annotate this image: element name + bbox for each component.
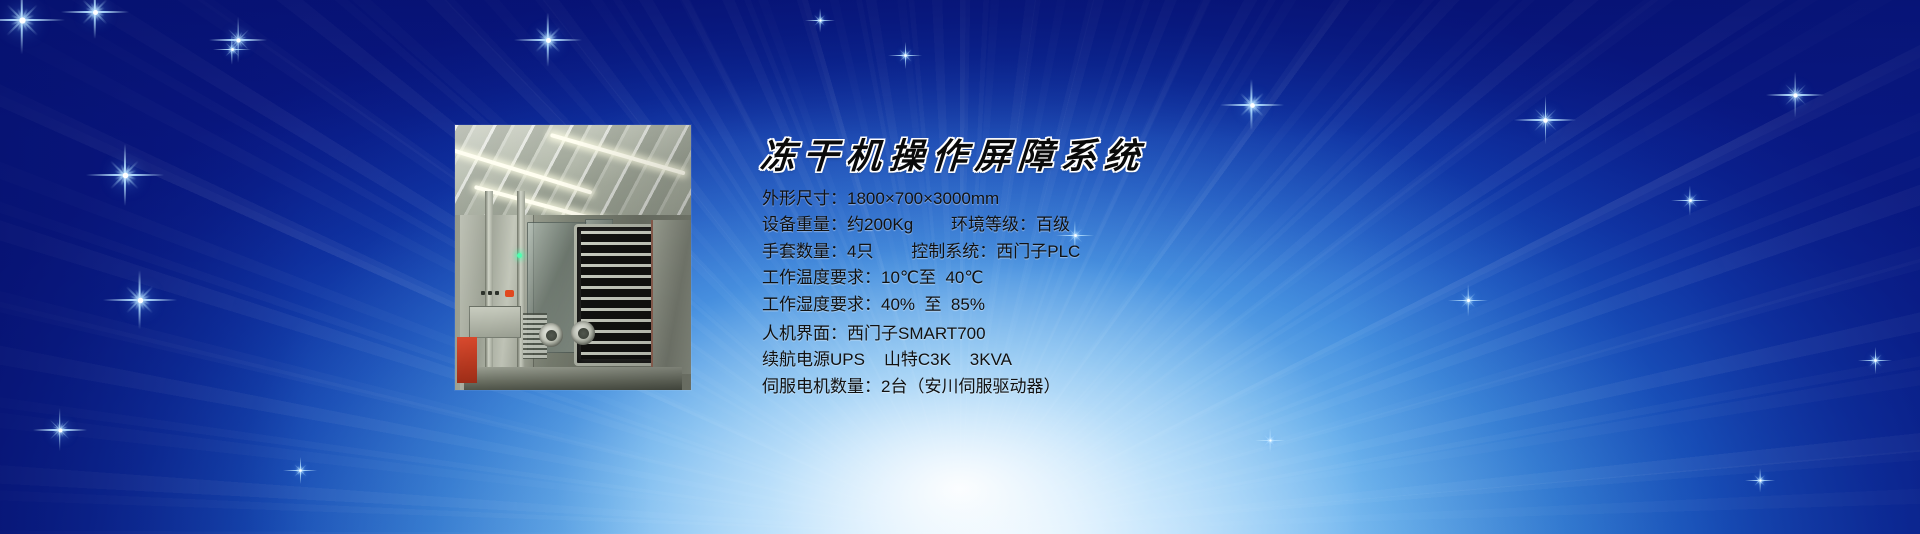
product-photo	[455, 125, 691, 390]
spec-line-gloves-plc: 手套数量：4只 控制系统：西门子PLC	[762, 239, 1452, 265]
spec-line-dimensions: 外形尺寸：1800×700×3000mm	[762, 186, 1452, 212]
spec-line-ups: 续航电源UPS 山特C3K 3KVA	[762, 347, 1452, 373]
spec-line-humidity: 工作湿度要求：40% 至 85%	[762, 292, 1452, 318]
page-title: 冻干机操作屏障系统	[759, 137, 1149, 177]
photo-shading-overlay	[455, 125, 691, 390]
spec-line-hmi: 人机界面：西门子SMART700	[762, 321, 1452, 347]
spec-line-temperature: 工作温度要求：10℃至 40℃	[762, 265, 1452, 291]
spec-line-weight-grade: 设备重量：约200Kg 环境等级：百级	[762, 212, 1452, 238]
product-photo-inner	[455, 125, 691, 390]
text-content: 冻干机操作屏障系统 外形尺寸：1800×700×3000mm 设备重量：约200…	[760, 0, 1460, 534]
spec-list: 外形尺寸：1800×700×3000mm 设备重量：约200Kg 环境等级：百级…	[762, 186, 1452, 400]
spec-line-servo-motors: 伺服电机数量：2台（安川伺服驱动器）	[762, 374, 1452, 400]
product-banner: 冻干机操作屏障系统 外形尺寸：1800×700×3000mm 设备重量：约200…	[0, 0, 1920, 534]
